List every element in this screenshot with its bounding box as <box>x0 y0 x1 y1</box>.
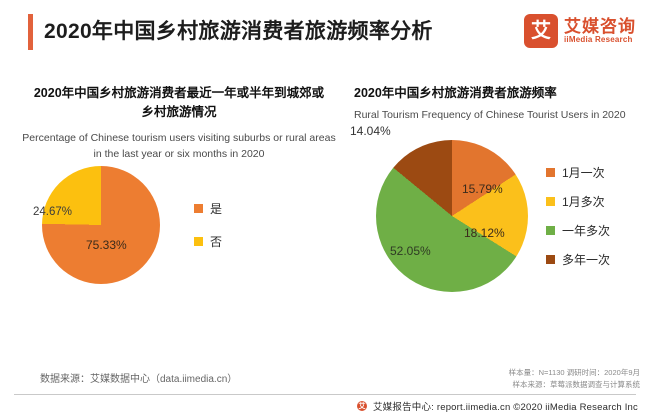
right-chart-title-en: Rural Tourism Frequency of Chinese Touri… <box>352 108 642 124</box>
left-pie-legend: 是 否 <box>194 200 222 250</box>
legend-swatch-icon-many-month <box>546 197 555 206</box>
legend-label-once-years: 多年一次 <box>562 251 610 268</box>
right-pie-graphic: 15.79% 18.12% 52.05% 14.04% <box>376 140 528 292</box>
left-chart-title-cn: 2020年中国乡村旅游消费者最近一年或半年到城郊或乡村旅游情况 <box>14 84 344 123</box>
legend-swatch-icon-many-year <box>546 226 555 235</box>
left-pie-chart: 75.33% 24.67% 是 否 <box>14 166 344 284</box>
legend-swatch-icon-yes <box>194 204 203 213</box>
right-pie-chart: 15.79% 18.12% 52.05% 14.04% 1月一次 1月多次 一年… <box>352 140 642 292</box>
right-pie-label-many-month: 18.12% <box>464 226 505 240</box>
sample-info: 样本量：N=1130 调研时间：2020年9月 样本来源：草莓派数据调查与计算系… <box>509 367 640 390</box>
legend-item-once-month[interactable]: 1月一次 <box>546 164 610 181</box>
legend-label-no: 否 <box>210 233 222 250</box>
legend-item-no[interactable]: 否 <box>194 233 222 250</box>
right-pie-legend: 1月一次 1月多次 一年多次 多年一次 <box>546 164 610 268</box>
left-chart-panel: 2020年中国乡村旅游消费者最近一年或半年到城郊或乡村旅游情况 Percenta… <box>14 84 344 354</box>
left-pie-label-yes: 75.33% <box>86 238 127 252</box>
left-chart-title-en: Percentage of Chinese tourism users visi… <box>14 131 344 163</box>
footer-logo-icon: 艾 <box>357 401 367 411</box>
legend-label-many-month: 1月多次 <box>562 193 605 210</box>
footer-divider <box>14 394 636 395</box>
legend-item-yes[interactable]: 是 <box>194 200 222 217</box>
brand-name-cn: 艾媒咨询 <box>564 18 636 36</box>
legend-item-many-month[interactable]: 1月多次 <box>546 193 610 210</box>
right-chart-title-cn: 2020年中国乡村旅游消费者旅游频率 <box>352 84 642 103</box>
footer-bar: 艾 艾媒报告中心: report.iimedia.cn ©2020 iiMedi… <box>0 397 650 415</box>
brand-logo: 艾 艾媒咨询 iiMedia Research <box>524 14 636 48</box>
header: 2020年中国乡村旅游消费者旅游频率分析 艾 艾媒咨询 iiMedia Rese… <box>0 0 650 62</box>
brand-mark-icon: 艾 <box>524 14 558 48</box>
data-source-note: 数据来源：艾媒数据中心（data.iimedia.cn） <box>40 370 237 385</box>
right-chart-panel: 2020年中国乡村旅游消费者旅游频率 Rural Tourism Frequen… <box>352 84 642 354</box>
legend-item-many-year[interactable]: 一年多次 <box>546 222 610 239</box>
right-pie-label-once-month: 15.79% <box>462 182 503 196</box>
sample-size-line: 样本量：N=1130 调研时间：2020年9月 <box>509 367 640 379</box>
brand-name-en: iiMedia Research <box>564 36 636 45</box>
legend-item-once-years[interactable]: 多年一次 <box>546 251 610 268</box>
page-title: 2020年中国乡村旅游消费者旅游频率分析 <box>44 15 433 45</box>
right-pie-label-many-year: 52.05% <box>390 244 431 258</box>
brand-text: 艾媒咨询 iiMedia Research <box>564 18 636 45</box>
legend-label-yes: 是 <box>210 200 222 217</box>
legend-swatch-icon-once-month <box>546 168 555 177</box>
left-pie-graphic: 75.33% 24.67% <box>42 166 160 284</box>
report-slide: 2020年中国乡村旅游消费者旅游频率分析 艾 艾媒咨询 iiMedia Rese… <box>0 0 650 415</box>
title-accent-bar <box>28 14 33 50</box>
sample-source-line: 样本来源：草莓派数据调查与计算系统 <box>509 379 640 391</box>
left-pie-label-no: 24.67% <box>33 206 72 218</box>
legend-label-many-year: 一年多次 <box>562 222 610 239</box>
right-pie-label-once-years: 14.04% <box>350 124 391 138</box>
footer-report-link[interactable]: 艾媒报告中心: report.iimedia.cn ©2020 iiMedia … <box>373 399 638 413</box>
legend-swatch-icon-no <box>194 237 203 246</box>
legend-label-once-month: 1月一次 <box>562 164 605 181</box>
legend-swatch-icon-once-years <box>546 255 555 264</box>
